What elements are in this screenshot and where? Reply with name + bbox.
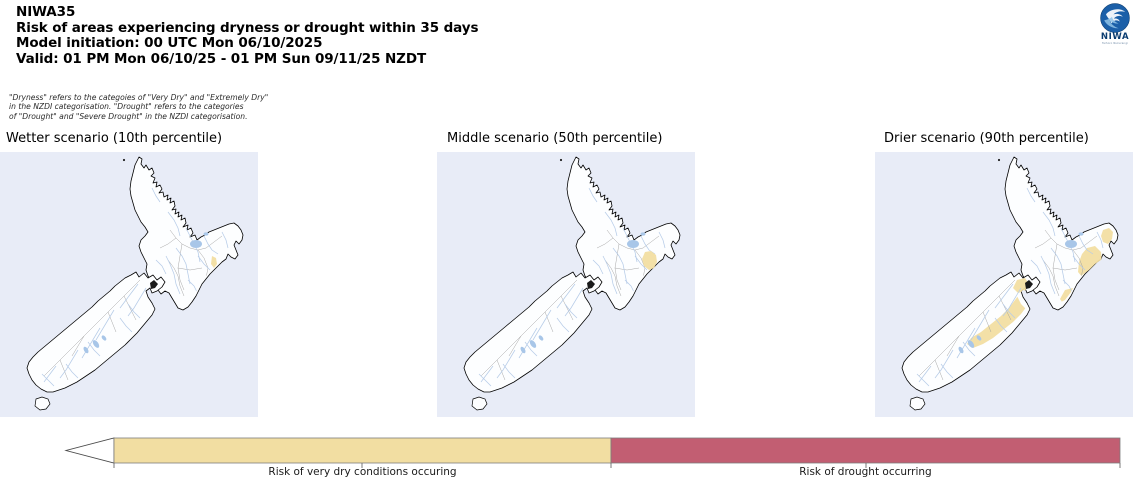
panel-title-middle: Middle scenario (50th percentile) <box>447 131 662 146</box>
map-panel-middle[interactable] <box>437 152 695 417</box>
new-zealand-map-drier <box>875 152 1133 417</box>
lake-rotorua <box>1079 232 1084 235</box>
offshore-island-dot <box>123 159 125 161</box>
lake-taupo <box>190 240 202 248</box>
niwa-wordmark: NIWA <box>1096 33 1134 42</box>
lake-rotorua <box>204 232 209 235</box>
offshore-island-dot <box>998 159 1000 161</box>
page-title: Risk of areas experiencing dryness or dr… <box>16 21 876 37</box>
lake-taupo <box>1065 240 1077 248</box>
valid-period-line: Valid: 01 PM Mon 06/10/25 - 01 PM Sun 09… <box>16 52 876 68</box>
lake-rotorua <box>641 232 646 235</box>
legend: Risk of very dry conditions occuring Ris… <box>0 432 1140 483</box>
definition-caption: "Dryness" refers to the categoies of "Ve… <box>9 93 429 121</box>
niwa-logo: NIWA Taihoro Nukurangi <box>1096 3 1134 45</box>
model-initiation-line: Model initiation: 00 UTC Mon 06/10/2025 <box>16 36 876 52</box>
caption-line-2: in the NZDI categorisation. "Drought" re… <box>9 102 429 111</box>
legend-label-drought: Risk of drought occurring <box>611 466 1120 478</box>
header-text-block: NIWA35 Risk of areas experiencing drynes… <box>16 5 876 67</box>
map-panel-wetter[interactable] <box>0 152 258 417</box>
product-code: NIWA35 <box>16 5 876 21</box>
panel-title-wetter: Wetter scenario (10th percentile) <box>6 131 222 146</box>
legend-segment-drought[interactable] <box>611 438 1120 463</box>
niwa-swirl-icon <box>1100 3 1130 33</box>
lake-taupo <box>627 240 639 248</box>
map-panel-drier[interactable] <box>875 152 1133 417</box>
legend-segment-very-dry[interactable] <box>114 438 611 463</box>
caption-line-3: of "Drought" and "Severe Drought" in the… <box>9 112 429 121</box>
niwa-subtext: Taihoro Nukurangi <box>1096 42 1134 45</box>
caption-line-1: "Dryness" refers to the categoies of "Ve… <box>9 93 429 102</box>
legend-arrow-left <box>66 438 114 463</box>
panel-title-drier: Drier scenario (90th percentile) <box>884 131 1089 146</box>
legend-label-very-dry: Risk of very dry conditions occuring <box>114 466 611 478</box>
new-zealand-map-middle <box>437 152 695 417</box>
new-zealand-map-wetter <box>0 152 258 417</box>
offshore-island-dot <box>560 159 562 161</box>
